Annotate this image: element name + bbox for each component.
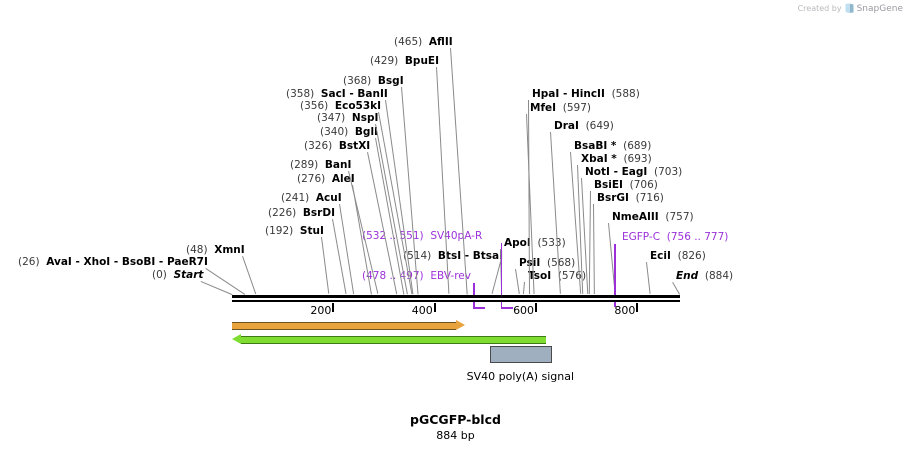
site-position: (358) (286, 88, 314, 100)
ruler-tick-label: 200 (307, 304, 331, 317)
primer-name: SV40pA-R (430, 230, 482, 242)
snapgene-logo-icon (845, 3, 854, 14)
restriction-site-label: TsoI (576) (528, 270, 586, 282)
site-name-separator: - (346, 88, 358, 100)
site-name-separator: - (610, 166, 622, 178)
site-position: (884) (705, 270, 733, 282)
site-enzyme-name: BsiEI (594, 179, 623, 191)
site-position: (757) (665, 211, 693, 223)
orf-arrow-body (241, 336, 546, 344)
site-enzyme-name: BanII (357, 88, 387, 100)
site-enzyme-name: BsgI (378, 75, 404, 87)
site-enzyme-name: BglI (355, 126, 378, 138)
restriction-site-label: NmeAIII (757) (612, 211, 694, 223)
watermark-prefix: Created by (798, 4, 842, 13)
site-position: (597) (563, 102, 591, 114)
site-position: (706) (630, 179, 658, 191)
site-enzyme-name: End (676, 270, 698, 282)
site-enzyme-name: BpuEI (405, 55, 439, 67)
restriction-site-label: (340) BglI (320, 126, 378, 138)
site-enzyme-name: NspI (352, 112, 378, 124)
site-enzyme-name: PaeR7I (167, 256, 208, 268)
site-position: (48) (186, 244, 208, 256)
site-enzyme-name: BsrDI (303, 207, 335, 219)
primer-range: (756 .. 777) (667, 231, 729, 243)
primer-label: (532 .. 551) SV40pA-R (362, 230, 482, 242)
site-position: (26) (18, 256, 40, 268)
site-enzyme-name: StuI (300, 225, 324, 237)
restriction-site-label: (0) Start (152, 269, 203, 281)
restriction-site-label: BsiEI (706) (594, 179, 658, 191)
restriction-site-label: MfeI (597) (530, 102, 591, 114)
restriction-site-label: (356) Eco53kI (300, 100, 381, 112)
orf-arrow-head (456, 320, 465, 330)
site-enzyme-name: XmnI (214, 244, 244, 256)
restriction-site-label: BsaBI * (689) (574, 140, 651, 152)
site-position: (0) (152, 269, 167, 281)
restriction-site-label: PsiI (568) (519, 257, 575, 269)
site-enzyme-name: Eco53kI (335, 100, 381, 112)
orf-arrow-reverse (232, 334, 546, 344)
orf-arrow-head (232, 334, 241, 344)
site-enzyme-name: AvaI (46, 256, 72, 268)
orf-arrow-body (232, 322, 456, 330)
site-position: (276) (297, 173, 325, 185)
site-enzyme-name: BanI (325, 159, 351, 171)
feature-label: SV40 poly(A) signal (65, 370, 911, 383)
restriction-site-label: NotI - EagI (703) (585, 166, 682, 178)
site-position: (347) (317, 112, 345, 124)
ruler-tick (332, 303, 334, 312)
orf-arrow-forward (232, 320, 465, 330)
restriction-site-label: (48) XmnI (186, 244, 245, 256)
restriction-site-label: (241) AcuI (281, 192, 342, 204)
site-position: (703) (654, 166, 682, 178)
site-position: (192) (265, 225, 293, 237)
site-position: (568) (547, 257, 575, 269)
restriction-site-label: (226) BsrDI (268, 207, 335, 219)
site-position: (368) (343, 75, 371, 87)
restriction-site-label: (26) AvaI - XhoI - BsoBI - PaeR7I (18, 256, 208, 268)
site-position: (533) (537, 237, 565, 249)
site-enzyme-name: NmeAIII (612, 211, 659, 223)
snapgene-watermark: Created by SnapGene (798, 3, 903, 14)
plasmid-length: 884 bp (0, 429, 911, 442)
restriction-site-label: (192) StuI (265, 225, 324, 237)
sequence-backbone-inner (232, 298, 680, 300)
watermark-brand: SnapGene (857, 4, 903, 14)
site-position: (241) (281, 192, 309, 204)
site-position: (429) (370, 55, 398, 67)
restriction-site-label: XbaI * (693) (581, 153, 652, 165)
site-position: (693) (623, 153, 651, 165)
restriction-site-label: (514) BtsI - BtsaI (403, 250, 503, 262)
site-enzyme-name: SacI (321, 88, 346, 100)
site-enzyme-name: NotI (585, 166, 610, 178)
ruler-tick (636, 303, 638, 312)
site-position: (689) (623, 140, 651, 152)
site-position: (356) (300, 100, 328, 112)
primer-bracket (473, 307, 485, 309)
restriction-site-label: BsrGI (716) (597, 192, 664, 204)
site-name-separator: - (559, 88, 571, 100)
primer-name: EGFP-C (622, 231, 660, 243)
site-enzyme-name: BstXI (339, 140, 370, 152)
site-enzyme-name: EciI (650, 250, 671, 262)
site-position: (716) (636, 192, 664, 204)
site-name-separator: - (110, 256, 122, 268)
restriction-site-label: DraI (649) (554, 120, 614, 132)
site-position: (226) (268, 207, 296, 219)
ruler-tick-label: 800 (611, 304, 635, 317)
restriction-site-label: (289) BanI (290, 159, 351, 171)
restriction-site-label: (326) BstXI (304, 140, 370, 152)
plasmid-title: pGCGFP-blcd (0, 412, 911, 427)
site-enzyme-name: BsoBI (122, 256, 155, 268)
site-enzyme-name: HincII (571, 88, 605, 100)
site-enzyme-name: AcuI (316, 192, 342, 204)
site-position: (326) (304, 140, 332, 152)
site-enzyme-name: BsrGI (597, 192, 629, 204)
restriction-site-label: (368) BsgI (343, 75, 404, 87)
site-name-separator: - (155, 256, 167, 268)
restriction-site-label: End (884) (676, 270, 733, 282)
site-enzyme-name: DraI (554, 120, 579, 132)
restriction-site-label: EciI (826) (650, 250, 706, 262)
primer-label: EGFP-C (756 .. 777) (622, 231, 728, 243)
site-enzyme-name: BsaBI * (574, 140, 616, 152)
restriction-site-label: (276) AleI (297, 173, 355, 185)
site-position: (826) (678, 250, 706, 262)
site-position: (465) (394, 36, 422, 48)
site-enzyme-name: HpaI (532, 88, 559, 100)
restriction-site-label: (347) NspI (317, 112, 378, 124)
restriction-site-label: (465) AflII (394, 36, 453, 48)
site-enzyme-name: ApoI (504, 237, 531, 249)
site-enzyme-name: XbaI * (581, 153, 617, 165)
site-position: (588) (612, 88, 640, 100)
site-enzyme-name: TsoI (528, 270, 551, 282)
site-enzyme-name: BtsI (438, 250, 461, 262)
ruler-tick (434, 303, 436, 312)
ruler-tick-label: 600 (510, 304, 534, 317)
ruler-tick-label: 400 (409, 304, 433, 317)
site-enzyme-name: Start (174, 269, 204, 281)
site-enzyme-name: AflII (429, 36, 453, 48)
site-position: (289) (290, 159, 318, 171)
site-enzyme-name: XhoI (84, 256, 111, 268)
site-enzyme-name: MfeI (530, 102, 556, 114)
ruler-tick (535, 303, 537, 312)
site-position: (649) (586, 120, 614, 132)
site-name-separator: - (72, 256, 84, 268)
site-enzyme-name: EagI (622, 166, 648, 178)
restriction-site-label: (429) BpuEI (370, 55, 439, 67)
feature-box (490, 346, 552, 363)
restriction-site-label: HpaI - HincII (588) (532, 88, 640, 100)
site-enzyme-name: BtsaI (473, 250, 503, 262)
restriction-site-label: (358) SacI - BanII (286, 88, 388, 100)
site-position: (340) (320, 126, 348, 138)
